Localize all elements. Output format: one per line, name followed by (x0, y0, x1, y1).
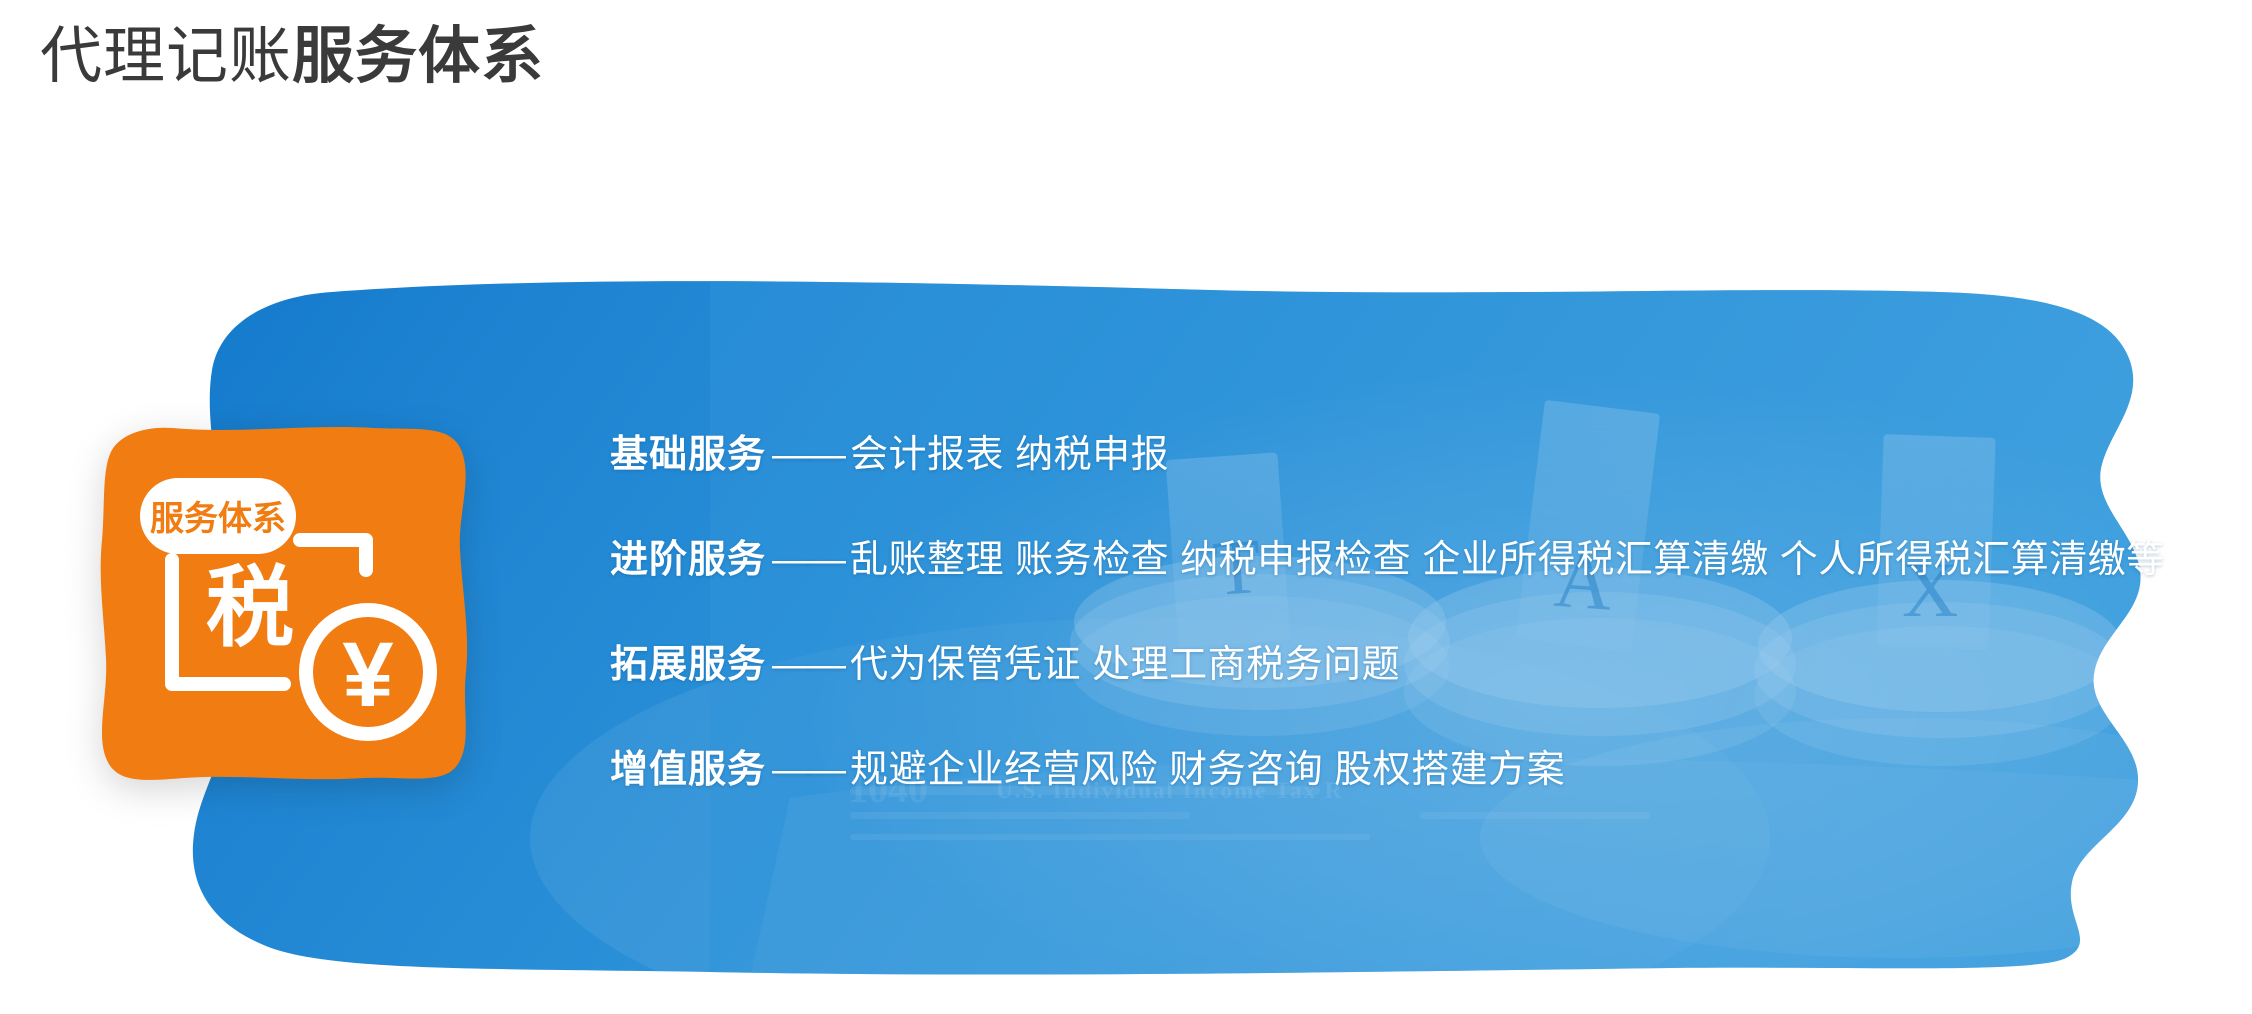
service-item-2: 拓展服务——代为保管凭证 处理工商税务问题 (610, 626, 2170, 731)
slide-root: 代理记账服务体系 (0, 0, 2252, 1014)
service-label-2: 拓展服务 (610, 644, 766, 686)
service-item-0: 基础服务——会计报表 纳税申报 (610, 416, 2170, 521)
page-title: 代理记账服务体系 (40, 18, 544, 96)
service-label-3: 增值服务 (610, 749, 766, 791)
service-system-badge: 税 ¥ 服务体系 (88, 410, 488, 810)
service-item-3: 增值服务——规避企业经营风险 财务咨询 股权搭建方案 (610, 731, 2170, 836)
page-title-bold: 服务体系 (292, 22, 544, 91)
badge-pill-label: 服务体系 (150, 500, 286, 538)
service-label-0: 基础服务 (610, 434, 766, 476)
service-detail-3: 规避企业经营风险 财务咨询 股权搭建方案 (850, 749, 1565, 791)
service-list: 基础服务——会计报表 纳税申报 进阶服务——乱账整理 账务检查 纳税申报检查 企… (610, 416, 2170, 836)
service-detail-1: 乱账整理 账务检查 纳税申报检查 企业所得税汇算清缴 个人所得税汇算清缴等 (850, 539, 2165, 581)
service-separator-1: —— (766, 539, 850, 581)
badge-tax-char: 税 (206, 558, 294, 657)
page-title-light: 代理记账 (40, 22, 292, 91)
service-detail-0: 会计报表 纳税申报 (850, 434, 1169, 476)
service-separator-3: —— (766, 749, 850, 791)
service-label-1: 进阶服务 (610, 539, 766, 581)
badge-shape: 税 ¥ 服务体系 (88, 410, 488, 810)
service-separator-0: —— (766, 434, 850, 476)
service-detail-2: 代为保管凭证 处理工商税务问题 (850, 644, 1400, 686)
service-item-1: 进阶服务——乱账整理 账务检查 纳税申报检查 企业所得税汇算清缴 个人所得税汇算… (610, 521, 2170, 626)
badge-currency-symbol: ¥ (342, 624, 393, 726)
service-separator-2: —— (766, 644, 850, 686)
